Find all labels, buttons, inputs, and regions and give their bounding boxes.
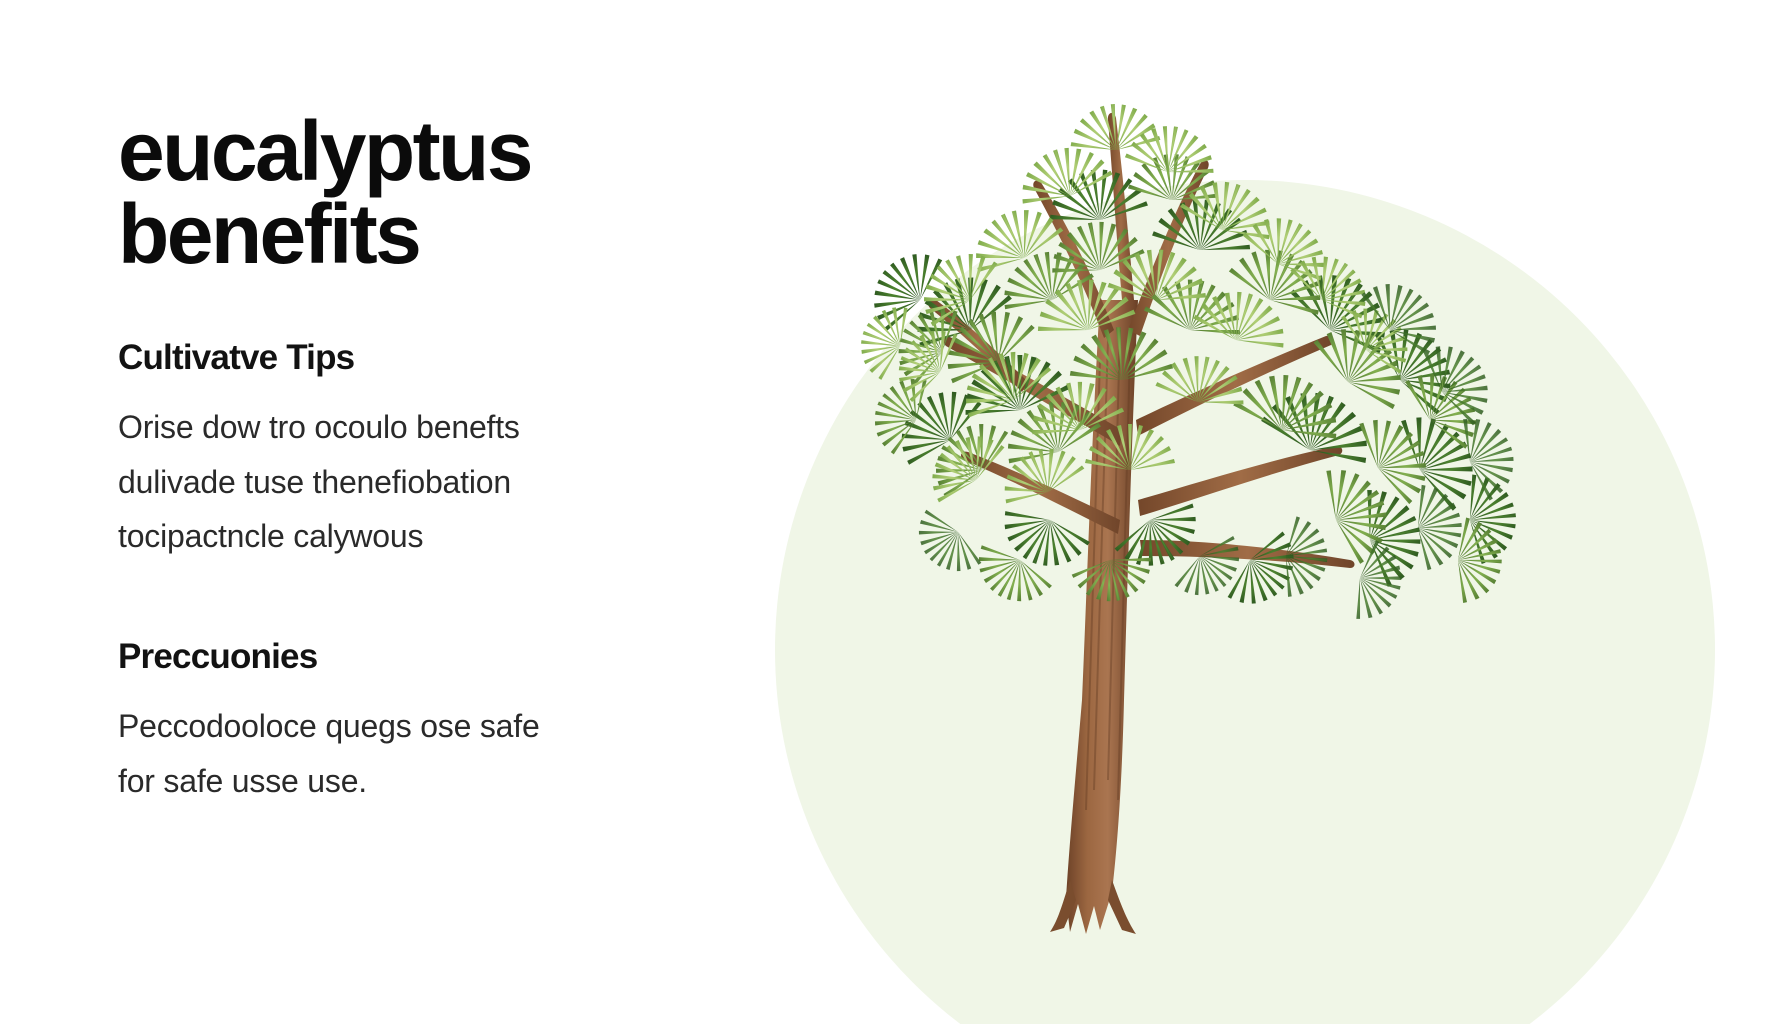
body-line: tocipactncle calywous <box>118 509 778 563</box>
section-heading-cultivation: Cultivatve Tips <box>118 338 778 378</box>
section-body-cultivation: Orise dow tro ocoulo benefts dulivade tu… <box>118 400 778 563</box>
section-heading-precautions: Preccuonies <box>118 637 778 677</box>
body-line: Orise dow tro ocoulo benefts <box>118 400 778 454</box>
branch-right-major <box>1136 336 1334 436</box>
trunk-root-right <box>1108 880 1136 934</box>
section-cultivation-tips: Cultivatve Tips Orise dow tro ocoulo ben… <box>118 338 778 563</box>
page-title: eucalyptus benefits <box>118 110 778 276</box>
slide-canvas: eucalyptus benefits Cultivatve Tips Oris… <box>0 0 1792 1024</box>
body-line: Peccodooloce quegs ose safe <box>118 699 778 753</box>
section-body-precautions: Peccodooloce quegs ose safe for safe uss… <box>118 699 778 808</box>
eucalyptus-tree-illustration <box>770 0 1792 1024</box>
section-precautions: Preccuonies Peccodooloce quegs ose safe … <box>118 637 778 808</box>
page-title-line-2: benefits <box>118 193 778 276</box>
body-line: for safe usse use. <box>118 754 778 808</box>
text-content-pane: eucalyptus benefits Cultivatve Tips Oris… <box>118 110 778 808</box>
illustration-pane <box>770 0 1792 1024</box>
branch-right-lower <box>1138 446 1342 516</box>
page-title-line-1: eucalyptus <box>118 110 778 193</box>
body-line: dulivade tuse thenefiobation <box>118 455 778 509</box>
